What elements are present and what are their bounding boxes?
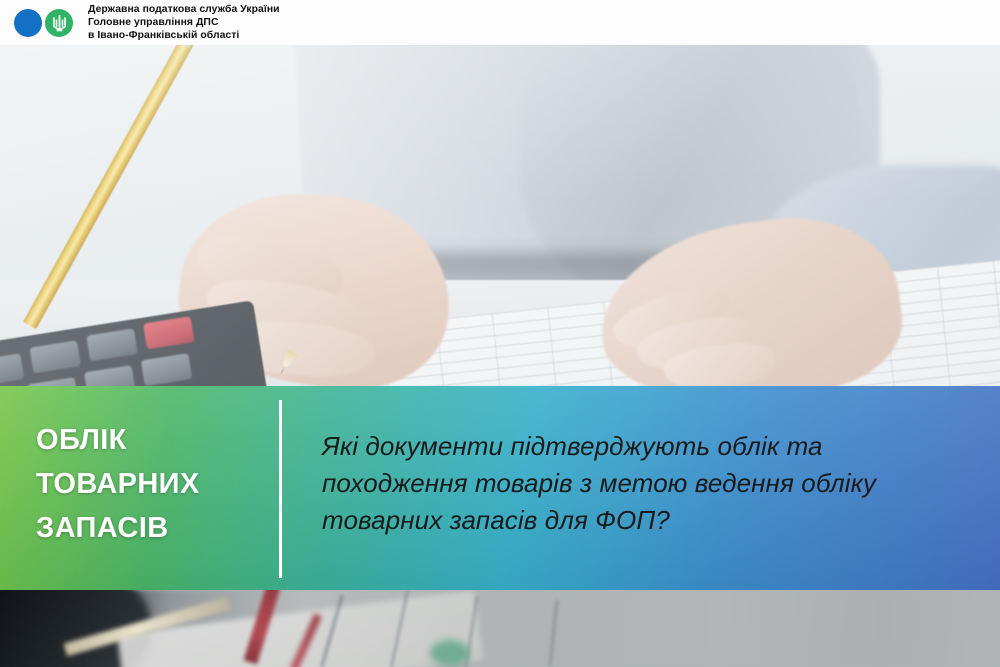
footer-photo-strip — [0, 590, 1000, 667]
hero-photo — [0, 45, 1000, 386]
strip-overlay — [0, 590, 1000, 667]
photo-calc-key — [27, 377, 78, 386]
photo-calc-key-red — [143, 316, 194, 349]
banner-vertical-divider — [279, 400, 282, 578]
infographic-page: Державна податкова служба України Головн… — [0, 0, 1000, 667]
org-line-3: в Івано-Франківській області — [88, 29, 280, 42]
photo-calc-key — [141, 353, 192, 386]
logo-circle-blue-icon — [14, 9, 42, 37]
tryzub-icon — [45, 9, 73, 37]
photo-calc-key — [0, 353, 24, 386]
photo-calc-key — [29, 340, 80, 373]
banner-question-text: Які документи підтверджують облік та пох… — [322, 428, 922, 539]
photo-calc-key — [84, 365, 135, 386]
org-line-1: Державна податкова служба України — [88, 3, 280, 16]
dps-logo[interactable] — [14, 9, 76, 37]
site-header: Державна податкова служба України Головн… — [0, 0, 1000, 45]
photo-calc-key — [86, 328, 137, 361]
banner-title-line-1: ОБЛІК — [36, 418, 262, 462]
banner-title-line-3: ЗАПАСІВ — [36, 506, 262, 550]
org-line-2: Головне управління ДПС — [88, 16, 280, 29]
organization-name: Державна податкова служба України Головн… — [88, 3, 280, 43]
banner-title-line-2: ТОВАРНИХ — [36, 462, 262, 506]
banner-title: ОБЛІК ТОВАРНИХ ЗАПАСІВ — [36, 418, 262, 550]
